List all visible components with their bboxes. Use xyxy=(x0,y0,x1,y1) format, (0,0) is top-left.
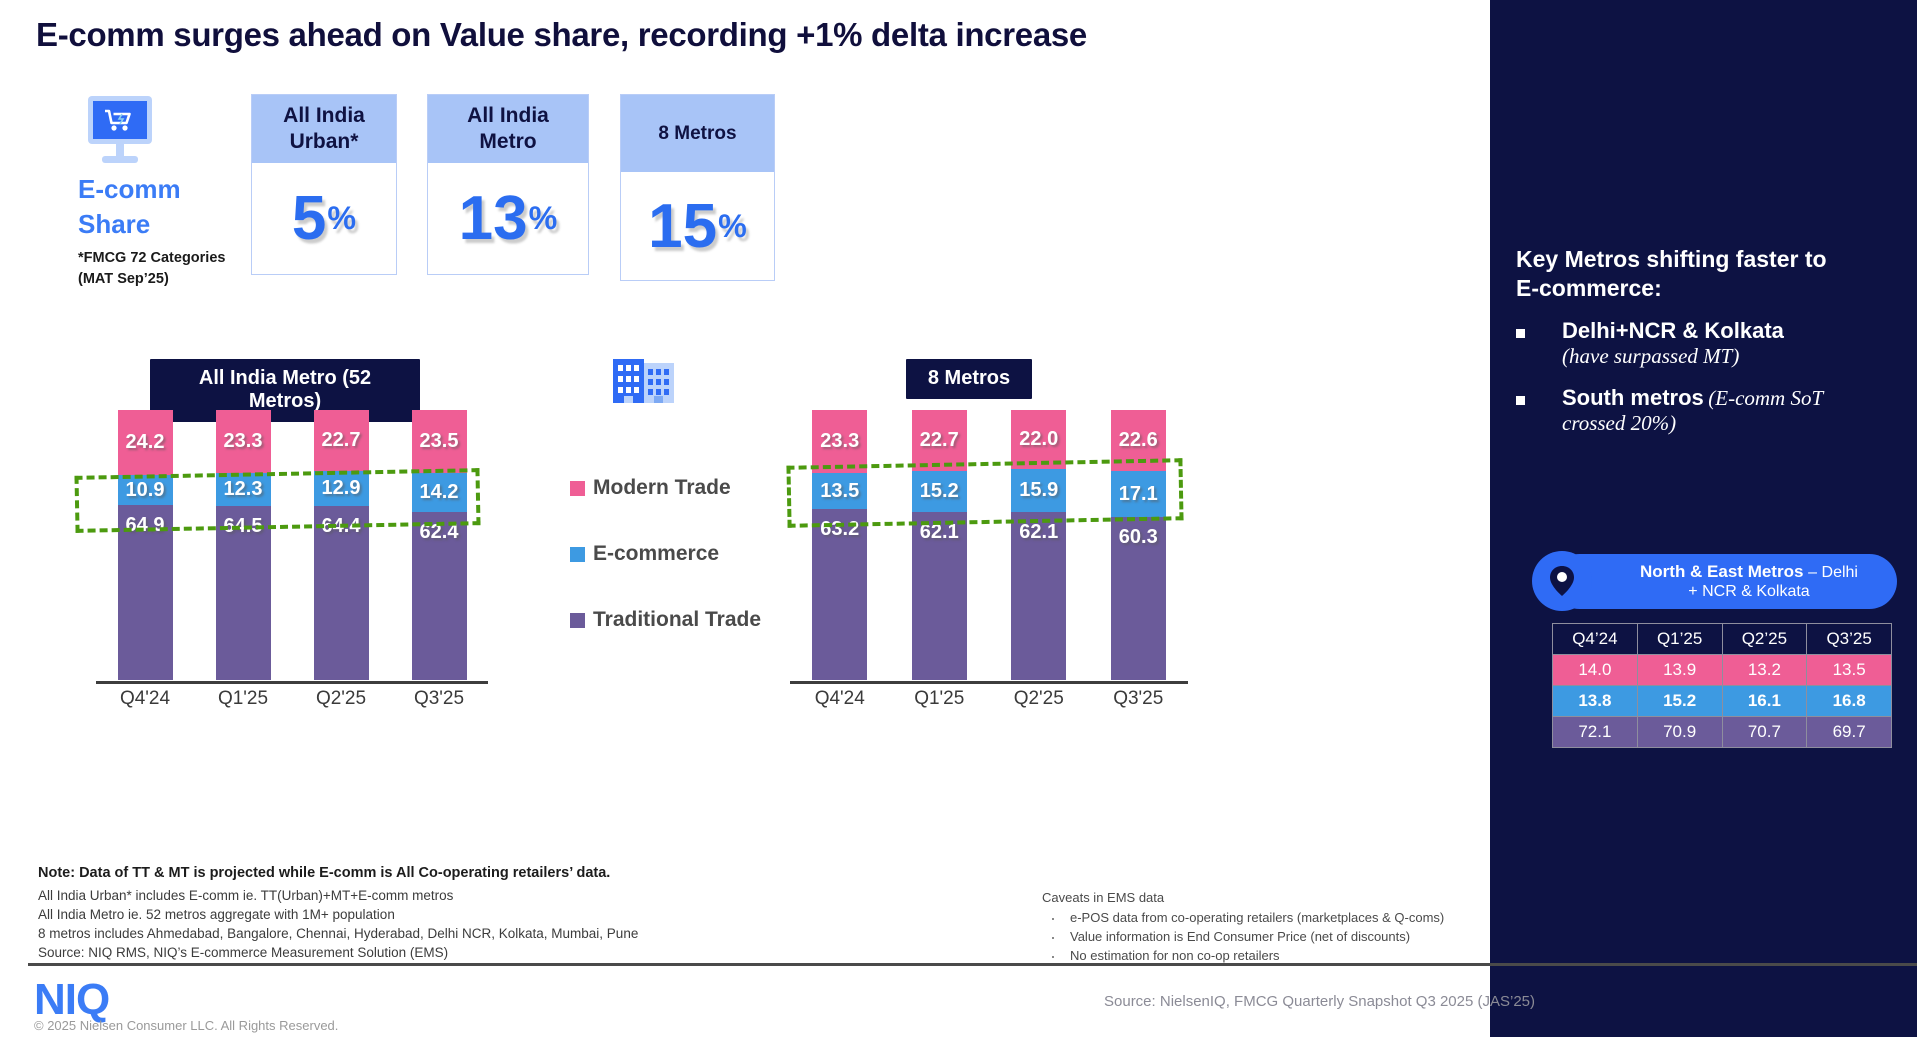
note-line: Source: NIQ RMS, NIQ’s E-commerce Measur… xyxy=(38,943,738,962)
kpi-head-line2: Urban* xyxy=(283,129,365,155)
stacked-bar: 23.514.262.4 xyxy=(412,410,467,680)
table-header-row: Q4’24Q1’25Q2’25Q3’25 xyxy=(1553,624,1892,655)
stacked-bar: 22.617.160.3 xyxy=(1111,410,1166,680)
x-axis-label: Q2'25 xyxy=(292,688,390,710)
ecommerce-monitor-cart-icon xyxy=(78,94,162,168)
bar-segment-e-commerce: 15.2 xyxy=(912,471,967,512)
kpi-value-unit: % xyxy=(529,200,558,237)
right-panel-bullets: Delhi+NCR & Kolkata (have surpassed MT) … xyxy=(1516,318,1888,452)
stacked-bar: 22.712.964.4 xyxy=(314,410,369,680)
x-axis-line-right xyxy=(790,681,1188,684)
kpi-card-all-india-urban: All India Urban* 5% xyxy=(251,94,397,275)
bar-segment-modern-trade: 22.6 xyxy=(1111,410,1166,471)
kpi-card-head: All India Metro xyxy=(428,95,588,163)
note-lines: All India Urban* includes E-comm ie. TT(… xyxy=(38,886,738,963)
bullet-2-strong: South metros xyxy=(1562,385,1704,410)
pill-strong: North & East Metros xyxy=(1640,562,1803,581)
bar-segment-modern-trade: 23.3 xyxy=(812,410,867,473)
table-header-cell: Q2’25 xyxy=(1722,624,1807,655)
legend-label: Modern Trade xyxy=(593,476,731,500)
legend-item-e-commerce: E-commerce xyxy=(570,521,800,587)
bar-group: 22.715.262.1 xyxy=(890,410,990,680)
kpi-value: 5% xyxy=(252,163,396,274)
legend-swatch-icon xyxy=(570,613,585,628)
bar-segment-traditional-trade: 60.3 xyxy=(1111,517,1166,680)
table-cell: 13.9 xyxy=(1637,655,1722,686)
table-cell: 14.0 xyxy=(1553,655,1638,686)
kpi-head-line2: Metro xyxy=(467,129,549,155)
copyright-text: © 2025 Nielsen Consumer LLC. All Rights … xyxy=(34,1018,338,1033)
bar-segment-traditional-trade: 64.4 xyxy=(314,506,369,680)
table-cell: 70.7 xyxy=(1722,717,1807,748)
table-header-cell: Q3’25 xyxy=(1807,624,1892,655)
kpi-value-unit: % xyxy=(327,200,356,237)
pill-thin: – Delhi xyxy=(1808,564,1858,581)
bar-segment-traditional-trade: 64.5 xyxy=(216,506,271,680)
table-row: 14.013.913.213.5 xyxy=(1553,655,1892,686)
map-pin-icon xyxy=(1532,551,1592,611)
note-line: All India Metro ie. 52 metros aggregate … xyxy=(38,905,738,924)
bar-segment-e-commerce: 12.3 xyxy=(216,473,271,506)
ecomm-share-line2: Share xyxy=(78,207,248,242)
bar-segment-traditional-trade: 62.4 xyxy=(412,512,467,680)
right-panel-bullet-2: South metros (E-comm SoT crossed 20%) xyxy=(1516,385,1888,436)
stacked-bar-chart-all-india-metro: 24.210.964.923.312.364.522.712.964.423.5… xyxy=(96,410,488,680)
note-line: 8 metros includes Ahmedabad, Bangalore, … xyxy=(38,924,738,943)
bar-segment-traditional-trade: 62.1 xyxy=(1011,512,1066,680)
legend-swatch-icon xyxy=(570,547,585,562)
bar-segment-modern-trade: 23.5 xyxy=(412,410,467,473)
x-axis-labels-left: Q4'24Q1'25Q2'25Q3'25 xyxy=(96,688,488,710)
bar-segment-e-commerce: 10.9 xyxy=(118,475,173,504)
table-cell: 72.1 xyxy=(1553,717,1638,748)
kpi-card-head: All India Urban* xyxy=(252,95,396,163)
x-axis-line-left xyxy=(96,681,488,684)
kpi-head-line1: 8 Metros xyxy=(658,122,736,145)
x-axis-label: Q2'25 xyxy=(989,688,1089,710)
ecomm-share-footnote: *FMCG 72 Categories (MAT Sep’25) xyxy=(78,248,278,290)
bar-group: 22.617.160.3 xyxy=(1089,410,1189,680)
kpi-value-number: 5 xyxy=(292,183,326,254)
table-header-cell: Q1’25 xyxy=(1637,624,1722,655)
kpi-value-unit: % xyxy=(718,208,747,245)
bar-segment-e-commerce: 13.5 xyxy=(812,473,867,509)
bar-segment-e-commerce: 15.9 xyxy=(1011,469,1066,512)
bar-group: 22.015.962.1 xyxy=(989,410,1089,680)
ecomm-share-line1: E-comm xyxy=(78,172,248,207)
pill-text: North & East Metros – Delhi + NCR & Kolk… xyxy=(1607,562,1891,602)
caveat-item: e-POS data from co-operating retailers (… xyxy=(1042,909,1462,928)
kpi-head-line1: All India xyxy=(467,103,549,129)
table-cell: 13.5 xyxy=(1807,655,1892,686)
x-axis-labels-right: Q4'24Q1'25Q2'25Q3'25 xyxy=(790,688,1188,710)
footer-divider xyxy=(28,963,1917,966)
caveats-block: Caveats in EMS data e-POS data from co-o… xyxy=(1042,889,1462,965)
table-cell: 69.7 xyxy=(1807,717,1892,748)
bar-segment-modern-trade: 24.2 xyxy=(118,410,173,475)
ecomm-footnote-line2: (MAT Sep’25) xyxy=(78,269,278,290)
x-axis-label: Q4'24 xyxy=(96,688,194,710)
bullet-1-italic: (have surpassed MT) xyxy=(1562,344,1739,368)
bar-segment-e-commerce: 12.9 xyxy=(314,471,369,506)
kpi-value-number: 13 xyxy=(459,183,528,254)
bar-group: 22.712.964.4 xyxy=(292,410,390,680)
ecomm-footnote-line1: *FMCG 72 Categories xyxy=(78,248,278,269)
bar-segment-traditional-trade: 62.1 xyxy=(912,512,967,680)
x-axis-label: Q3'25 xyxy=(1089,688,1189,710)
legend-label: Traditional Trade xyxy=(593,608,761,632)
table-cell: 16.1 xyxy=(1722,686,1807,717)
table-cell: 16.8 xyxy=(1807,686,1892,717)
table-cell: 15.2 xyxy=(1637,686,1722,717)
legend-item-traditional-trade: Traditional Trade xyxy=(570,587,800,653)
bar-group: 23.514.262.4 xyxy=(390,410,488,680)
bar-group: 23.312.364.5 xyxy=(194,410,292,680)
note-heading: Note: Data of TT & MT is projected while… xyxy=(38,865,610,881)
table-cell: 13.8 xyxy=(1553,686,1638,717)
bar-segment-e-commerce: 14.2 xyxy=(412,473,467,511)
x-axis-label: Q1'25 xyxy=(194,688,292,710)
bar-segment-e-commerce: 17.1 xyxy=(1111,471,1166,517)
bullet-1-strong: Delhi+NCR & Kolkata xyxy=(1562,318,1784,343)
stacked-bar-chart-8-metros: 23.313.563.222.715.262.122.015.962.122.6… xyxy=(790,410,1188,680)
bar-segment-modern-trade: 22.0 xyxy=(1011,410,1066,469)
bar-segment-traditional-trade: 64.9 xyxy=(118,505,173,680)
table-row: 72.170.970.769.7 xyxy=(1553,717,1892,748)
right-panel-bullet-1: Delhi+NCR & Kolkata (have surpassed MT) xyxy=(1516,318,1888,369)
right-insight-panel xyxy=(1490,0,1917,1037)
stacked-bar: 22.015.962.1 xyxy=(1011,410,1066,680)
table-header-cell: Q4’24 xyxy=(1553,624,1638,655)
stacked-bar: 22.715.262.1 xyxy=(912,410,967,680)
bar-segment-modern-trade: 23.3 xyxy=(216,410,271,473)
ecomm-share-label: E-comm Share xyxy=(78,172,248,241)
stacked-bar: 23.313.563.2 xyxy=(812,410,867,680)
kpi-card-head: 8 Metros xyxy=(621,95,774,172)
bar-group: 24.210.964.9 xyxy=(96,410,194,680)
bar-group: 23.313.563.2 xyxy=(790,410,890,680)
kpi-head-line1: All India xyxy=(283,103,365,129)
caveats-list: e-POS data from co-operating retailers (… xyxy=(1042,909,1462,966)
bar-segment-modern-trade: 22.7 xyxy=(314,410,369,471)
legend-swatch-icon xyxy=(570,481,585,496)
x-axis-label: Q4'24 xyxy=(790,688,890,710)
chart-legend: Modern TradeE-commerceTraditional Trade xyxy=(570,455,800,653)
source-note-right: Source: NielsenIQ, FMCG Quarterly Snapsh… xyxy=(1104,993,1535,1010)
right-panel-heading-line1: Key Metros shifting faster to xyxy=(1516,245,1846,274)
slide-canvas: E-comm surges ahead on Value share, reco… xyxy=(0,0,1917,1037)
office-buildings-icon xyxy=(611,355,677,405)
note-line: All India Urban* includes E-comm ie. TT(… xyxy=(38,886,738,905)
caveats-title: Caveats in EMS data xyxy=(1042,889,1462,908)
kpi-value: 13% xyxy=(428,163,588,274)
table-row: 13.815.216.116.8 xyxy=(1553,686,1892,717)
right-panel-heading-line2: E-commerce: xyxy=(1516,274,1846,303)
chart-title-8-metros: 8 Metros xyxy=(906,359,1032,399)
x-axis-label: Q3'25 xyxy=(390,688,488,710)
bar-segment-modern-trade: 22.7 xyxy=(912,410,967,471)
caveat-item: Value information is End Consumer Price … xyxy=(1042,928,1462,947)
right-panel-heading: Key Metros shifting faster to E-commerce… xyxy=(1516,245,1846,304)
table-cell: 70.9 xyxy=(1637,717,1722,748)
stacked-bar: 24.210.964.9 xyxy=(118,410,173,680)
kpi-card-8-metros: 8 Metros 15% xyxy=(620,94,775,281)
kpi-card-all-india-metro: All India Metro 13% xyxy=(427,94,589,275)
pill-line2: + NCR & Kolkata xyxy=(1607,582,1891,601)
north-east-metros-pill: North & East Metros – Delhi + NCR & Kolk… xyxy=(1552,554,1897,609)
legend-label: E-commerce xyxy=(593,542,719,566)
x-axis-label: Q1'25 xyxy=(890,688,990,710)
legend-item-modern-trade: Modern Trade xyxy=(570,455,800,521)
bar-segment-traditional-trade: 63.2 xyxy=(812,509,867,680)
north-east-metros-table: Q4’24Q1’25Q2’25Q3’2514.013.913.213.513.8… xyxy=(1552,623,1892,748)
kpi-value: 15% xyxy=(621,172,774,280)
table-cell: 13.2 xyxy=(1722,655,1807,686)
page-title: E-comm surges ahead on Value share, reco… xyxy=(36,16,1456,54)
stacked-bar: 23.312.364.5 xyxy=(216,410,271,680)
kpi-value-number: 15 xyxy=(648,191,717,262)
